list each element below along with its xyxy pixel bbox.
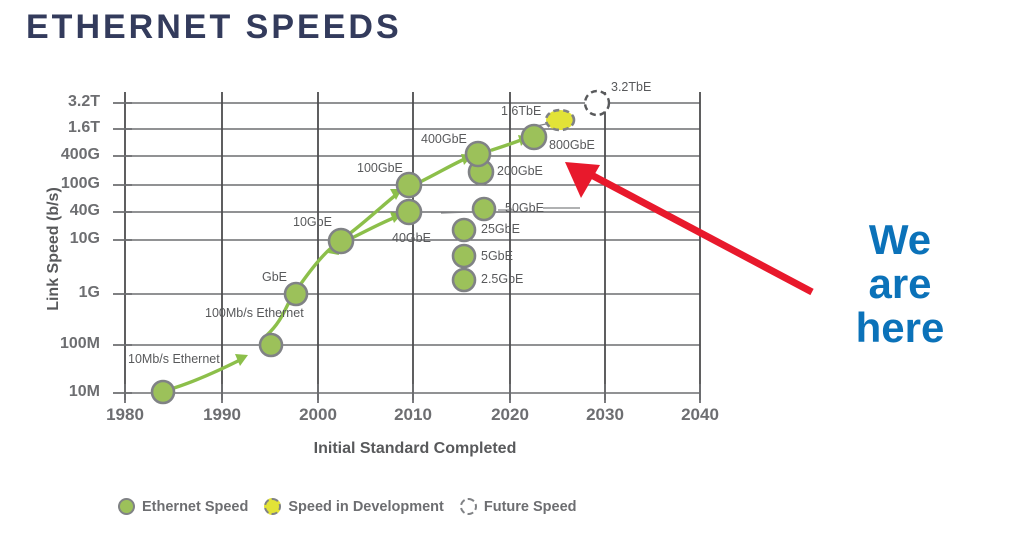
legend-label-ethernet-speed: Ethernet Speed <box>142 499 248 515</box>
point-label-800gbe: 800GbE <box>549 139 595 152</box>
marker-gbe <box>285 283 307 305</box>
chart-canvas: ETHERNET SPEEDS <box>0 0 1030 547</box>
y-tick-40G: 40G <box>30 202 100 220</box>
marker-25gbe <box>453 219 475 241</box>
marker-800gbe <box>522 125 546 149</box>
y-tick-1G: 1G <box>30 284 100 302</box>
y-tick-400G: 400G <box>30 146 100 164</box>
point-label-2p5gbe: 2.5GbE <box>481 273 523 286</box>
x-tick-1980: 1980 <box>90 405 160 425</box>
marker-40gbe <box>397 200 421 224</box>
marker-400gbe <box>466 142 490 166</box>
legend-item-speed-in-development: Speed in Development <box>264 498 444 515</box>
point-label-100mbs: 100Mb/s Ethernet <box>205 306 269 320</box>
point-label-400gbe: 400GbE <box>421 133 467 146</box>
callout-line-1: We <box>815 218 985 262</box>
marker-1p6tbe <box>546 110 574 130</box>
point-label-40gbe: 40GbE <box>392 232 431 245</box>
point-label-25gbe: 25GbE <box>481 223 520 236</box>
we-are-here-arrow <box>565 162 812 292</box>
y-tick-3.2T: 3.2T <box>30 93 100 111</box>
point-label-1p6tbe: 1.6TbE <box>501 105 541 118</box>
y-tick-10M: 10M <box>30 383 100 401</box>
point-label-3p2tbe: 3.2TbE <box>611 81 651 94</box>
legend-item-future-speed: Future Speed <box>460 498 577 515</box>
y-tick-1.6T: 1.6T <box>30 119 100 137</box>
marker-100gbe <box>397 173 421 197</box>
data-point-markers <box>152 91 609 403</box>
x-tick-2010: 2010 <box>378 405 448 425</box>
y-axis-title: Link Speed (b/s) <box>45 159 63 339</box>
y-axis-ticks <box>113 103 132 393</box>
point-label-10mbs: 10Mb/s Ethernet <box>128 352 188 366</box>
marker-2p5gbe <box>453 269 475 291</box>
x-tick-2040: 2040 <box>665 405 735 425</box>
marker-10mbs <box>152 381 174 403</box>
we-are-here-callout: We are here <box>815 218 985 350</box>
point-label-5gbe: 5GbE <box>481 250 513 263</box>
legend-label-future-speed: Future Speed <box>484 499 577 515</box>
legend-label-speed-in-development: Speed in Development <box>288 499 444 515</box>
x-tick-2020: 2020 <box>475 405 545 425</box>
x-axis-title: Initial Standard Completed <box>180 440 650 458</box>
point-label-gbe: GbE <box>262 271 287 284</box>
x-tick-2030: 2030 <box>570 405 640 425</box>
x-tick-2000: 2000 <box>283 405 353 425</box>
y-tick-100M: 100M <box>30 335 100 353</box>
marker-10gbe <box>329 229 353 253</box>
point-label-100gbe: 100GbE <box>357 162 403 175</box>
marker-3p2tbe <box>585 91 609 115</box>
legend-item-ethernet-speed: Ethernet Speed <box>118 498 248 515</box>
point-label-50gbe: 50GbE <box>505 202 544 215</box>
marker-100mbs <box>260 334 282 356</box>
legend-green-circle-icon <box>118 498 135 515</box>
marker-5gbe <box>453 245 475 267</box>
x-tick-1990: 1990 <box>187 405 257 425</box>
y-tick-10G: 10G <box>30 230 100 248</box>
point-label-10gbe: 10GbE <box>293 216 332 229</box>
callout-line-3: here <box>815 306 985 350</box>
point-label-200gbe: 200GbE <box>497 165 543 178</box>
legend-dashed-circle-icon <box>460 498 477 515</box>
chart-legend: Ethernet Speed Speed in Development Futu… <box>118 498 577 515</box>
y-tick-100G: 100G <box>30 175 100 193</box>
marker-50gbe <box>473 198 495 220</box>
legend-yellow-circle-icon <box>264 498 281 515</box>
callout-line-2: are <box>815 262 985 306</box>
